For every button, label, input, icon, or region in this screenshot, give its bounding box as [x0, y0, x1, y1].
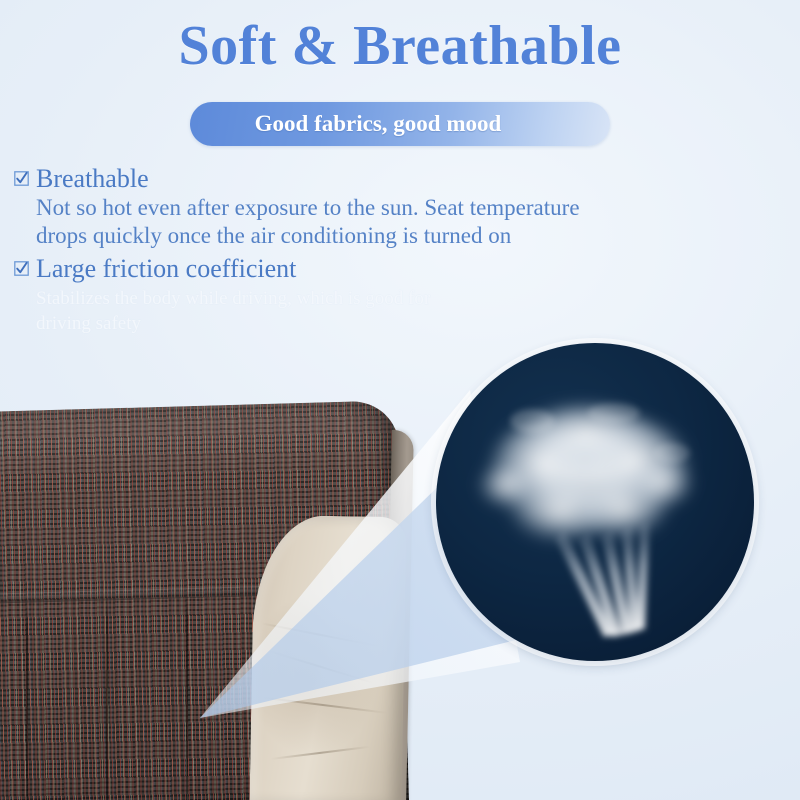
liner-crease: [261, 622, 379, 647]
feature-list: Breathable Not so hot even after exposur…: [14, 164, 674, 340]
seat-seam: [26, 604, 28, 800]
seat-seam: [186, 594, 188, 800]
checkbox-checked-icon: [14, 261, 29, 276]
promo-graphic: Soft & Breathable Good fabrics, good moo…: [0, 0, 800, 800]
feature-title: Large friction coefficient: [36, 254, 296, 284]
feature-heading: Large friction coefficient: [14, 254, 674, 284]
subtitle-banner: Good fabrics, good mood: [190, 102, 610, 146]
page-title: Soft & Breathable: [0, 14, 800, 78]
liner-crease: [271, 746, 370, 760]
checkbox-checked-icon: [14, 171, 29, 186]
breathability-smoke-inset: [436, 343, 754, 661]
seat-seam: [106, 598, 108, 800]
liner-crease: [268, 650, 374, 684]
feature-description: Not so hot even after exposure to the su…: [36, 194, 636, 250]
feature-item: Breathable Not so hot even after exposur…: [14, 164, 674, 250]
smoke-cloud: [476, 399, 696, 545]
liner-crease: [258, 696, 387, 714]
subtitle-banner-label: Good fabrics, good mood: [190, 111, 610, 137]
feature-item: Large friction coefficient Stabilizes th…: [14, 254, 674, 336]
feature-heading: Breathable: [14, 164, 674, 194]
feature-title: Breathable: [36, 164, 149, 194]
feature-description: Stabilizes the body while driving, which…: [36, 286, 456, 336]
seat-inner-liner: [249, 515, 406, 800]
